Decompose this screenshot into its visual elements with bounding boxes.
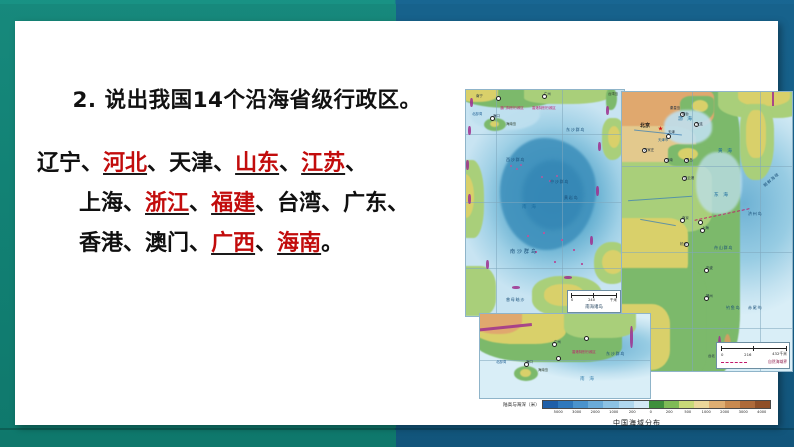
scale-tick	[786, 346, 787, 351]
legend-color-bar	[542, 400, 771, 409]
legend-tick: 4000	[753, 410, 772, 414]
map-label-dalian: 大连	[696, 122, 703, 126]
city-dot	[496, 96, 501, 101]
china-sea-map-figure: 西沙群岛 中沙群岛 东沙群岛 黄岩岛 南沙群岛 曾母暗沙 南 海 海南岛 北部湾…	[453, 73, 793, 431]
map-label-nanjing: 南京	[682, 216, 689, 220]
province-plain: 天津	[169, 151, 213, 176]
province-plain: 、	[279, 151, 301, 176]
legend-title: 陆高与海深（米）	[503, 402, 540, 408]
map-label-xisha: 西沙群岛	[506, 158, 525, 162]
province-highlight: 海南	[277, 231, 321, 256]
province-plain: 、	[321, 191, 343, 216]
text-column: 2. 说出我国14个沿海省级行政区。 辽宁、河北、天津、山东、江苏、 上海、浙江…	[15, 83, 465, 264]
province-plain: 、	[255, 191, 277, 216]
map-label-ningbo: 宁波	[706, 266, 713, 270]
slide-card: 2. 说出我国14个沿海省级行政区。 辽宁、河北、天津、山东、江苏、 上海、浙江…	[15, 21, 778, 425]
map-label-lower-beibu-gulf: 北部湾	[496, 360, 506, 364]
map-label-bohai-sea: 渤 海	[678, 118, 693, 122]
inset-scale-bar	[571, 293, 617, 298]
legend-swatch	[543, 401, 558, 408]
scale-tick	[753, 346, 754, 351]
legend-swatch	[755, 401, 770, 408]
scale-tick	[616, 293, 617, 298]
map-label-beibu-gulf: 北部湾	[472, 112, 482, 116]
city-dot	[584, 336, 589, 341]
map-label-shanghai: 上海	[702, 226, 709, 230]
map-label-tianjin: 天津	[668, 130, 675, 134]
answer-line-1: 辽宁、河北、天津、山东、江苏、	[37, 144, 465, 184]
map-label-taipei: 台北	[708, 354, 715, 358]
map-label-hangzhou: 杭州	[680, 242, 687, 246]
legend-tick: 200	[623, 410, 642, 414]
legend-swatch	[709, 401, 724, 408]
dash-boundary-mark	[466, 160, 469, 170]
legend-tick: 2000	[586, 410, 605, 414]
province-highlight: 广西	[211, 231, 255, 256]
map-label-chiwei: 赤尾屿	[748, 306, 762, 310]
main-scale-right-label: 432千米	[772, 351, 787, 357]
scale-left-label: 0	[571, 298, 573, 303]
map-label-diaoyu: 钓鱼岛	[726, 306, 740, 310]
legend-swatch	[558, 401, 573, 408]
legend-swatch	[588, 401, 603, 408]
legend-tick: 5000	[549, 410, 568, 414]
map-label-zengmu: 曾母暗沙	[506, 298, 525, 302]
province-plain: 、	[123, 191, 145, 216]
legend-swatch	[619, 401, 634, 408]
province-highlight: 山东	[235, 151, 279, 176]
province-plain: 、	[345, 151, 367, 176]
legend-tick: 1000	[697, 410, 716, 414]
inset-caption: 南海诸岛	[571, 304, 617, 310]
city-dot	[698, 220, 703, 225]
map-label-nansha: 南沙群岛	[510, 250, 538, 254]
map-label-qingdao: 青岛	[686, 158, 693, 162]
graticule-line	[562, 90, 563, 317]
background-top-stripe	[0, 0, 794, 4]
map-label-haikou: 海口	[493, 114, 500, 118]
natural-boundary-dash-icon	[721, 362, 747, 363]
map-label-huangyan: 黄岩岛	[564, 196, 578, 200]
graticule-line	[466, 134, 625, 135]
map-label-qinhuangdao: 秦皇岛	[670, 106, 680, 110]
answer-line-3: 香港、澳门、广西、海南。	[37, 224, 465, 264]
dash-boundary-mark	[606, 106, 609, 115]
province-plain: 。	[321, 231, 343, 256]
legend-tick: 0	[642, 410, 661, 414]
province-plain: 、	[81, 151, 103, 176]
dash-boundary-mark	[468, 194, 471, 204]
map-label-yantai: 烟台	[682, 112, 689, 116]
map-label-fuzhou: 福州	[706, 294, 713, 298]
dash-boundary-mark	[486, 260, 489, 269]
hainan-peak-shape	[520, 369, 531, 377]
graticule-line	[692, 92, 693, 372]
map-label-taiwan-island: 台湾岛	[608, 92, 618, 96]
legend-swatch	[603, 401, 618, 408]
dash-boundary-mark	[598, 142, 601, 151]
map-label-east-sea: 东 海	[714, 194, 729, 198]
scale-rule	[571, 295, 617, 296]
province-plain: 、	[255, 231, 277, 256]
slide-stage: 2. 说出我国14个沿海省级行政区。 辽宁、河北、天津、山东、江苏、 上海、浙江…	[0, 0, 794, 447]
legend-swatch	[664, 401, 679, 408]
province-plain: 、	[189, 231, 211, 256]
province-plain: 、	[189, 191, 211, 216]
province-plain: 香港	[79, 231, 123, 256]
city-dot	[556, 356, 561, 361]
question-title: 2. 说出我国14个沿海省级行政区。	[15, 83, 465, 114]
province-plain: 、	[387, 191, 409, 216]
luzon-highland-shape	[608, 126, 620, 148]
map-label-hainan-island: 海南岛	[506, 122, 516, 126]
map-label-nanning: 南宁	[476, 94, 483, 98]
scale-tick	[571, 293, 572, 298]
map-label-lower-dongsha: 东沙群岛	[606, 352, 625, 356]
elevation-legend: 陆高与海深（米） 5000300020001000200020050010002…	[503, 400, 771, 428]
legend-swatch	[634, 401, 649, 408]
province-highlight: 浙江	[145, 191, 189, 216]
legend-swatch	[679, 401, 694, 408]
provincial-border	[630, 326, 633, 348]
graticule-line	[760, 92, 761, 372]
inset-scale-box: 0 240 千米 南海诸岛	[567, 290, 621, 313]
graticule-line	[622, 166, 793, 167]
province-plain: 、	[213, 151, 235, 176]
south-coast-lower-panel: 广州 香港特别行政区 海口 海南岛 北部湾 南 海 东沙群岛	[479, 313, 651, 399]
dash-boundary-mark	[564, 276, 572, 279]
map-label-beijing: 北京	[640, 124, 650, 128]
malay-shape	[465, 266, 496, 316]
province-plain: 上海	[79, 191, 123, 216]
main-map-key-box: 0 216 432千米 自然海域界	[716, 342, 790, 369]
dash-boundary-mark	[468, 126, 471, 135]
map-label-macau-sar: 澳门特别行政区	[500, 106, 524, 110]
legend-tick: 2000	[716, 410, 735, 414]
map-label-dongsha: 东沙群岛	[566, 128, 585, 132]
legend-tick: 200	[660, 410, 679, 414]
graticule-line	[466, 202, 625, 203]
map-label-lower-haikou: 海口	[526, 360, 533, 364]
legend-swatch	[694, 401, 709, 408]
coastal-lowland-shape	[524, 89, 610, 104]
scale-tick	[721, 346, 722, 351]
province-highlight: 河北	[103, 151, 147, 176]
province-plain: 辽宁	[37, 151, 81, 176]
map-caption: 中国海域分布	[503, 418, 771, 428]
dash-boundary-mark	[470, 98, 473, 107]
map-label-lower-hainan-island: 海南岛	[538, 368, 548, 372]
legend-tick: 3000	[734, 410, 753, 414]
dash-boundary-mark	[512, 286, 520, 289]
legend-swatch	[725, 401, 740, 408]
hainan-highland-shape	[490, 121, 499, 127]
map-label-lianyungang: 连云港	[684, 176, 694, 180]
legend-tick: 3000	[568, 410, 587, 414]
legend-tick: 500	[679, 410, 698, 414]
map-label-shijiazhuang: 石家庄	[644, 148, 654, 152]
map-label-zhongsha: 中沙群岛	[550, 180, 569, 184]
map-label-zhoushan: 舟山群岛	[714, 246, 733, 250]
scale-tick	[593, 293, 594, 298]
korea-highland-shape	[746, 110, 766, 158]
scale-right-label: 千米	[610, 298, 617, 303]
graticule-line	[496, 90, 497, 317]
legend-swatch	[573, 401, 588, 408]
natural-boundary-label: 自然海域界	[768, 359, 787, 365]
answer-line-2: 上海、浙江、福建、台湾、广东、	[37, 184, 465, 224]
map-label-lower-hk: 香港特别行政区	[572, 350, 596, 354]
province-highlight: 福建	[211, 191, 255, 216]
yellow-sea-shelf-shape	[696, 152, 742, 214]
province-highlight: 江苏	[301, 151, 345, 176]
map-label-south-sea: 南 海	[522, 206, 537, 210]
main-scale-bar	[721, 346, 787, 351]
scale-mid-label: 240	[588, 298, 595, 303]
map-label-yellow-sea: 黄 海	[718, 150, 733, 154]
scale-rule	[721, 348, 787, 349]
main-scale-left-label: 0	[721, 352, 723, 357]
province-answer-list: 辽宁、河北、天津、山东、江苏、 上海、浙江、福建、台湾、广东、 香港、澳门、广西…	[15, 144, 465, 264]
main-scale-mid-label: 216	[744, 352, 751, 357]
map-label-jinan: 济南	[666, 158, 673, 162]
map-label-jeju: 济州岛	[748, 212, 762, 216]
map-label-lower-guangzhou: 广州	[554, 340, 561, 344]
map-label-tianjin-city: 天津市	[658, 138, 668, 142]
guangdong-lowland-shape	[564, 313, 636, 338]
province-plain: 台湾	[277, 191, 321, 216]
legend-tick: 1000	[605, 410, 624, 414]
provincial-border	[772, 91, 774, 106]
graticule-line	[622, 252, 793, 253]
map-label-hongkong-sar: 香港特别行政区	[532, 106, 556, 110]
south-china-sea-inset: 西沙群岛 中沙群岛 东沙群岛 黄岩岛 南沙群岛 曾母暗沙 南 海 海南岛 北部湾…	[465, 89, 625, 317]
province-plain: 澳门	[145, 231, 189, 256]
map-label-lower-south-sea: 南 海	[580, 378, 595, 382]
legend-swatch	[740, 401, 755, 408]
xisha-islands-speckles	[508, 164, 524, 172]
map-label-guangzhou: 广州	[544, 92, 551, 96]
legend-swatch	[649, 401, 664, 408]
province-plain: 广东	[343, 191, 387, 216]
province-plain: 、	[123, 231, 145, 256]
dash-boundary-mark	[596, 186, 599, 196]
province-plain: 、	[147, 151, 169, 176]
legend-tick-labels: 5000300020001000200020050010002000300040…	[503, 410, 771, 414]
